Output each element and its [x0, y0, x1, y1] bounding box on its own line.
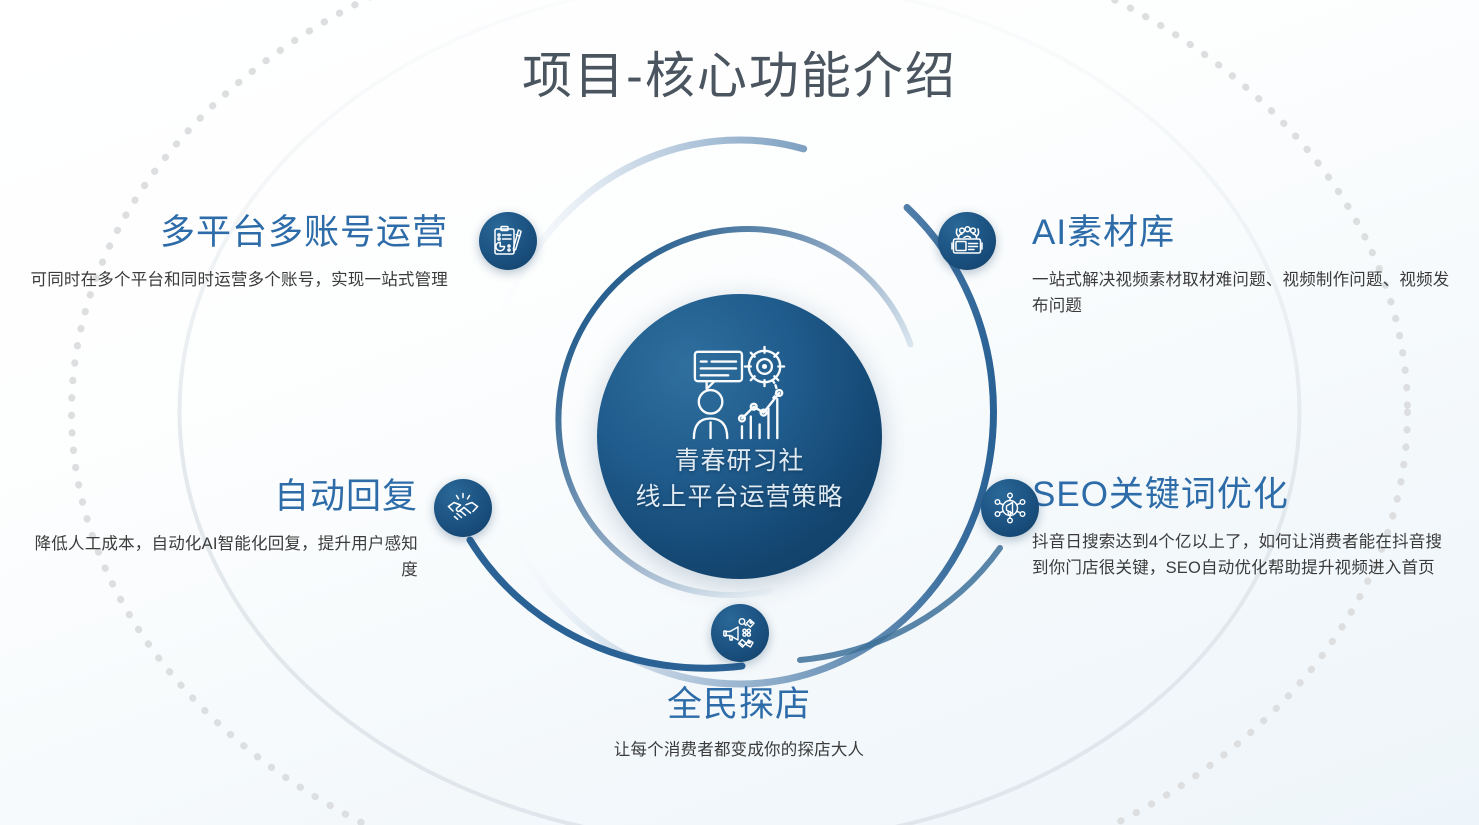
feature-body: 抖音日搜索达到4个亿以上了，如何让消费者能在抖音搜到你门店很关键，SEO自动优化…	[1032, 529, 1452, 582]
page-title: 项目-核心功能介绍	[0, 46, 1479, 106]
feature-store-exploration: 全民探店 让每个消费者都变成你的探店大人	[489, 686, 989, 763]
badge-seo-keyword[interactable]	[981, 479, 1039, 537]
handshake-icon	[446, 491, 480, 525]
feature-seo-keyword: SEO关键词优化 抖音日搜索达到4个亿以上了，如何让消费者能在抖音搜到你门店很关…	[1032, 476, 1452, 582]
badge-auto-reply[interactable]	[434, 479, 492, 537]
feature-heading: 全民探店	[489, 686, 989, 725]
feature-heading: 自动回复	[28, 478, 418, 517]
feature-body: 让每个消费者都变成你的探店大人	[489, 737, 989, 764]
badge-multi-platform[interactable]	[479, 212, 537, 270]
badge-store-exploration[interactable]	[711, 604, 769, 662]
feature-heading: 多平台多账号运营	[28, 214, 448, 253]
megaphone-network-icon	[993, 491, 1027, 525]
feature-heading: AI素材库	[1032, 214, 1452, 253]
megaphone-tags-icon	[723, 616, 757, 650]
hub-line-1: 青春研习社	[635, 444, 843, 480]
hub-line-2: 线上平台运营策略	[635, 480, 843, 516]
feature-multi-platform: 多平台多账号运营 可同时在多个平台和同时运营多个账号，实现一站式管理	[28, 214, 448, 293]
clipboard-pen-icon	[491, 224, 525, 258]
feature-body: 可同时在多个平台和同时运营多个账号，实现一站式管理	[28, 267, 448, 294]
feature-heading: SEO关键词优化	[1032, 476, 1452, 515]
feature-body: 一站式解决视频素材取材难问题、视频制作问题、视频发布问题	[1032, 267, 1452, 320]
badge-ai-material-library[interactable]	[938, 212, 996, 270]
feature-body: 降低人工成本，自动化AI智能化回复，提升用户感知度	[28, 531, 418, 584]
slide-canvas: 项目-核心功能介绍	[0, 0, 1479, 825]
people-media-frame-icon	[950, 224, 984, 258]
hub-label: 青春研习社 线上平台运营策略	[635, 444, 843, 515]
center-hub: 青春研习社 线上平台运营策略	[597, 294, 882, 579]
feature-ai-material-library: AI素材库 一站式解决视频素材取材难问题、视频制作问题、视频发布问题	[1032, 214, 1452, 320]
feature-auto-reply: 自动回复 降低人工成本，自动化AI智能化回复，提升用户感知度	[28, 478, 418, 584]
analytics-person-gear-icon	[681, 340, 799, 444]
